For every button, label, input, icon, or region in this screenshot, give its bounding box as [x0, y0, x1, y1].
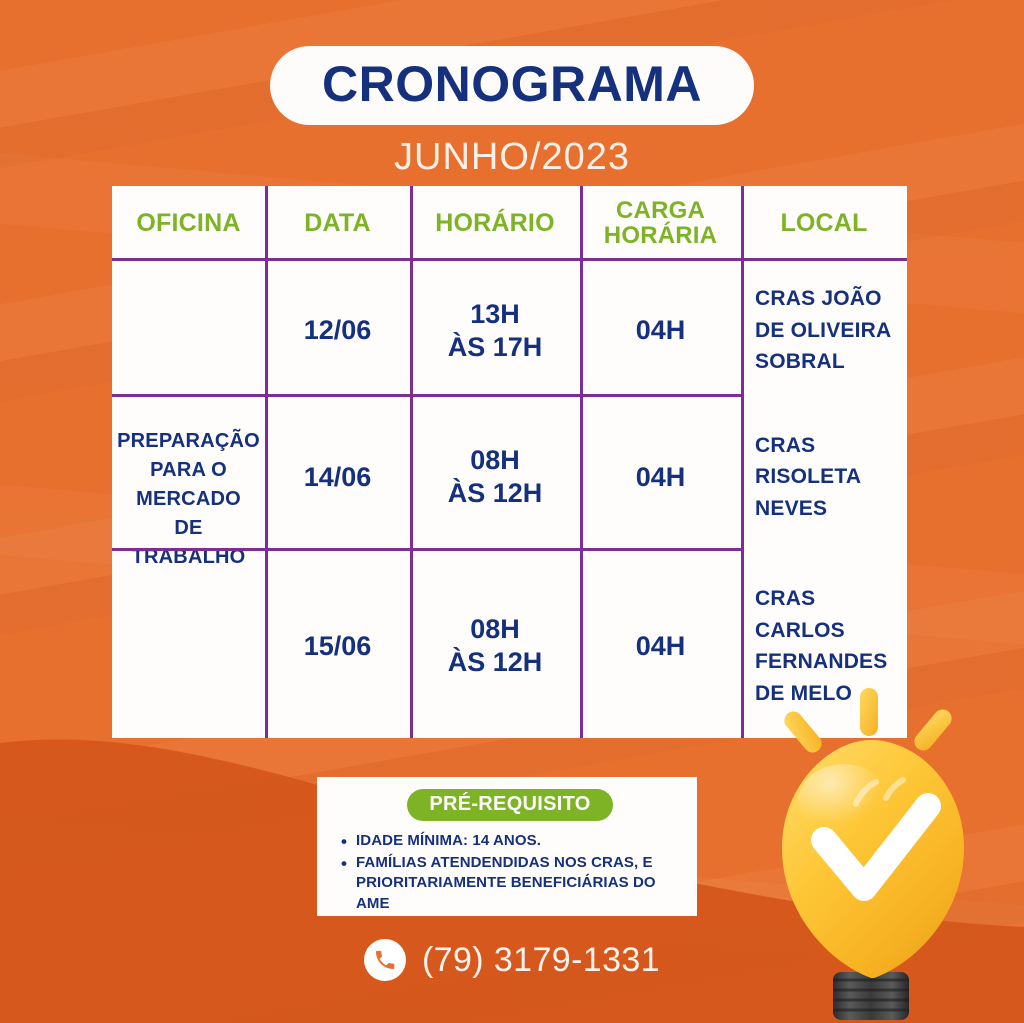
horario-line: 08H	[470, 445, 520, 475]
table-header-line: CARGA	[616, 197, 705, 224]
local-line: CRAS JOÃO	[755, 287, 882, 310]
horario-line: ÀS 12H	[448, 478, 543, 508]
local-line: DE OLIVEIRA	[755, 319, 891, 342]
table-grid-line	[410, 186, 413, 738]
phone-icon[interactable]	[364, 939, 406, 981]
cell-carga-horaria: 04H	[636, 630, 686, 663]
table-header-label: HORÁRIO	[435, 211, 554, 237]
oficina-line: PARA O	[150, 459, 227, 481]
oficina-line: MERCADO	[136, 488, 241, 510]
local-line: CRAS	[755, 587, 815, 610]
title-pill: CRONOGRAMA	[270, 46, 754, 125]
table-row: 08H ÀS 12H	[410, 554, 580, 738]
horario-line: 13H	[470, 299, 520, 329]
table-header-carga-horaria: CARGA HORÁRIA	[580, 186, 741, 261]
table-header-label: DATA	[304, 211, 371, 237]
phone-number[interactable]: (79) 3179-1331	[422, 943, 660, 977]
table-row: CRAS JOÃO DE OLIVEIRA SOBRAL	[741, 261, 907, 400]
table-row: 12/06	[265, 261, 410, 400]
page-subtitle: JUNHO/2023	[0, 138, 1024, 176]
table-row: 04H	[580, 400, 741, 554]
table-header-local: LOCAL	[741, 186, 907, 261]
prerequisite-box: PRÉ-REQUISITO IDADE MÍNIMA: 14 ANOS. FAM…	[317, 777, 697, 916]
prerequisite-pill-label: PRÉ-REQUISITO	[429, 793, 590, 815]
local-line: CARLOS	[755, 619, 845, 642]
table-grid-line	[112, 548, 741, 551]
cell-local: CRAS RISOLETA NEVES	[755, 430, 861, 525]
local-line: NEVES	[755, 497, 827, 520]
prerequisite-pill-wrap: PRÉ-REQUISITO	[339, 789, 681, 821]
prerequisite-pill: PRÉ-REQUISITO	[407, 789, 612, 821]
list-item: IDADE MÍNIMA: 14 ANOS.	[339, 831, 681, 852]
table-header-oficina: OFICINA	[112, 186, 265, 261]
cell-carga-horaria: 04H	[636, 314, 686, 347]
horario-line: ÀS 17H	[448, 332, 543, 362]
header: CRONOGRAMA JUNHO/2023	[0, 0, 1024, 176]
table-row: 14/06	[265, 400, 410, 554]
cell-data: 12/06	[304, 314, 372, 347]
table-row: 04H	[580, 554, 741, 738]
cell-local: CRAS JOÃO DE OLIVEIRA SOBRAL	[755, 283, 891, 378]
table-header-label: OFICINA	[136, 211, 240, 237]
cell-carga-horaria: 04H	[636, 461, 686, 494]
cell-horario: 08H ÀS 12H	[448, 444, 543, 510]
table-header-label: LOCAL	[780, 211, 867, 237]
horario-line: ÀS 12H	[448, 647, 543, 677]
schedule-table: OFICINA DATA HORÁRIO CARGA HORÁRIA LOCAL…	[112, 186, 907, 738]
horario-line: 08H	[470, 614, 520, 644]
local-line: SOBRAL	[755, 350, 845, 373]
local-line: FERNANDES	[755, 650, 887, 673]
phone-glyph	[373, 948, 397, 972]
page-title: CRONOGRAMA	[322, 59, 702, 109]
cell-horario: 13H ÀS 17H	[448, 298, 543, 364]
cell-data: 14/06	[304, 461, 372, 494]
table-grid-line	[112, 258, 907, 261]
table-grid-line	[741, 186, 744, 738]
list-item: FAMÍLIAS ATENDENDIDAS NOS CRAS, E PRIORI…	[339, 853, 681, 915]
table-row: CRAS RISOLETA NEVES	[741, 400, 907, 554]
table-cell-oficina-merged: PREPARAÇÃO PARA O MERCADO DE TRABALHO	[112, 261, 265, 738]
table-header-line: HORÁRIA	[604, 222, 717, 249]
table-grid-line	[112, 394, 741, 397]
table-row: 04H	[580, 261, 741, 400]
local-line: CRAS	[755, 434, 815, 457]
local-line: RISOLETA	[755, 465, 861, 488]
cell-data: 15/06	[304, 630, 372, 663]
oficina-line: DE	[174, 517, 202, 539]
table-header-horario: HORÁRIO	[410, 186, 580, 261]
table-grid-line	[265, 186, 268, 738]
table-row: 13H ÀS 17H	[410, 261, 580, 400]
cell-horario: 08H ÀS 12H	[448, 613, 543, 679]
oficina-line: PREPARAÇÃO	[117, 430, 260, 452]
table-row: 08H ÀS 12H	[410, 400, 580, 554]
contact-row[interactable]: (79) 3179-1331	[0, 939, 1024, 981]
table-header-data: DATA	[265, 186, 410, 261]
table-grid-line	[580, 186, 583, 738]
table-row: 15/06	[265, 554, 410, 738]
prerequisite-list: IDADE MÍNIMA: 14 ANOS. FAMÍLIAS ATENDEND…	[339, 831, 681, 915]
table-header-label: CARGA HORÁRIA	[604, 199, 717, 248]
